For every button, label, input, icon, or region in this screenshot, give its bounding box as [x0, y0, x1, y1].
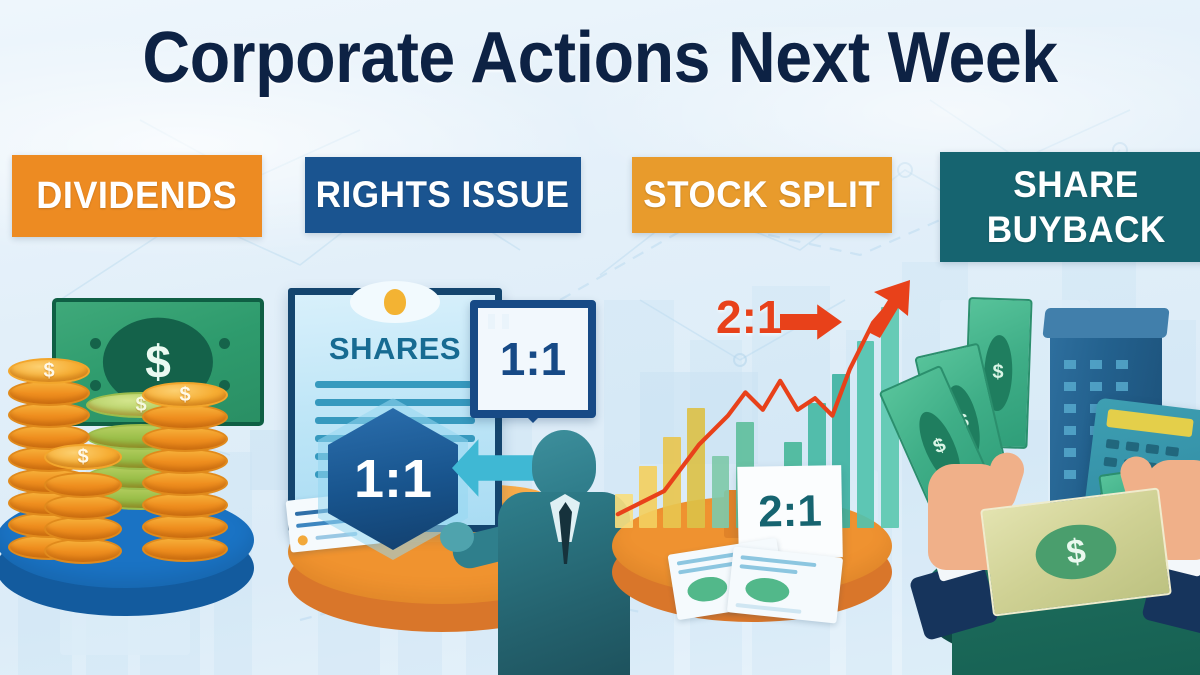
coin-dollar-symbol: $ [142, 382, 228, 408]
businessman-hand [440, 522, 474, 552]
banner-share-buyback[interactable]: SHARE BUYBACK [940, 152, 1200, 262]
certificate-seal-icon [350, 281, 440, 323]
banner-share-buyback-label-line1: SHARE [1013, 162, 1138, 207]
banner-rights-issue-label: RIGHTS ISSUE [316, 174, 570, 216]
coin-dollar-symbol: $ [44, 444, 122, 470]
banner-dividends-label: DIVIDENDS [37, 175, 238, 218]
banner-stock-split-label: STOCK SPLIT [644, 174, 881, 216]
page-title: Corporate Actions Next Week [48, 16, 1152, 100]
calculator-screen [1106, 409, 1194, 437]
split-documents [672, 540, 832, 620]
coin-dollar-symbol: $ [8, 358, 90, 384]
ratio-sign-1to1: 1:1 [470, 300, 596, 418]
coin-stack-right: $ [142, 382, 228, 566]
banner-share-buyback-label-line2: BUYBACK [986, 207, 1165, 252]
ratio-sign-label: 1:1 [500, 332, 566, 386]
banner-rights-issue[interactable]: RIGHTS ISSUE [305, 157, 581, 233]
businessman-figure [498, 430, 630, 675]
trend-arrowhead-icon [848, 274, 918, 344]
businessman-head [532, 430, 596, 500]
banner-stock-split[interactable]: STOCK SPLIT [632, 157, 892, 233]
certificate-title: SHARES [295, 331, 495, 367]
banner-dividends[interactable]: DIVIDENDS [12, 155, 262, 237]
banknote-foreground: $ [980, 487, 1172, 616]
infographic-canvas: Corporate Actions Next Week $ $ $ [0, 0, 1200, 675]
document-front [727, 546, 843, 623]
split-ratio-headline: 2:1 [716, 290, 782, 344]
coin-stack-middle: $ [44, 444, 122, 568]
